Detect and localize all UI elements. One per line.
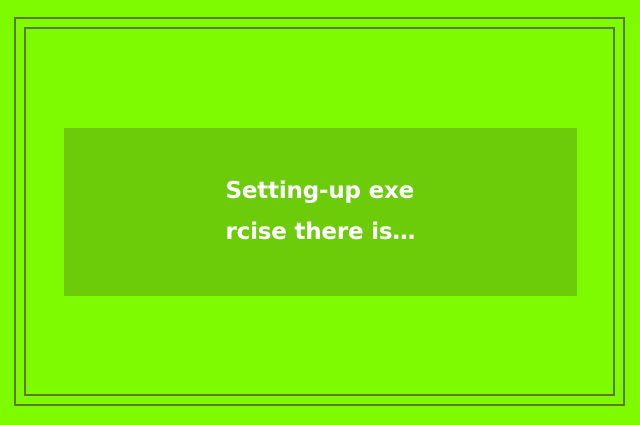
content-panel: Setting-up exercise there is…: [64, 128, 577, 296]
slide-canvas: Setting-up exercise there is…: [0, 0, 640, 425]
headline-text: Setting-up exercise there is…: [226, 171, 416, 253]
